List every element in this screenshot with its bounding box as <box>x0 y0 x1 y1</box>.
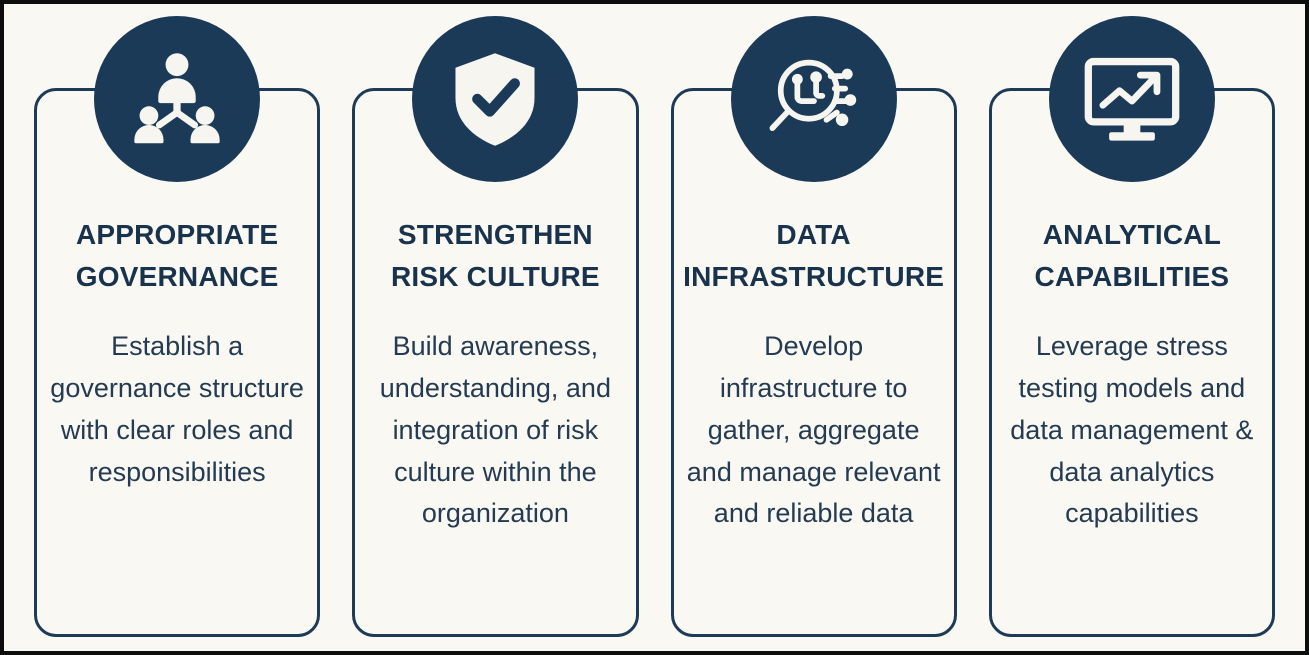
card-title: STRENGTHEN RISK CULTURE <box>364 214 626 298</box>
card-description: Leverage stress testing models and data … <box>1002 326 1262 535</box>
infographic-background: APPROPRIATE GOVERNANCE Establish a gover… <box>4 4 1305 651</box>
card-row: APPROPRIATE GOVERNANCE Establish a gover… <box>4 4 1305 651</box>
shield-check-icon <box>412 16 578 182</box>
magnifier-data-nodes-icon <box>731 16 897 182</box>
infographic-canvas: APPROPRIATE GOVERNANCE Establish a gover… <box>0 0 1309 655</box>
card-strengthen-risk-culture[interactable]: STRENGTHEN RISK CULTURE Build awareness,… <box>352 4 638 651</box>
card-data-infrastructure[interactable]: DATA INFRASTRUCTURE Develop infrastructu… <box>671 4 957 651</box>
card-title: APPROPRIATE GOVERNANCE <box>46 214 308 298</box>
card-description: Develop infrastructure to gather, aggreg… <box>684 326 944 535</box>
org-hierarchy-icon <box>94 16 260 182</box>
monitor-trend-chart-icon <box>1049 16 1215 182</box>
card-title: ANALYTICAL CAPABILITIES <box>1001 214 1263 298</box>
card-description: Establish a governance structure with cl… <box>47 326 307 493</box>
card-analytical-capabilities[interactable]: ANALYTICAL CAPABILITIES Leverage stress … <box>989 4 1275 651</box>
card-appropriate-governance[interactable]: APPROPRIATE GOVERNANCE Establish a gover… <box>34 4 320 651</box>
card-title: DATA INFRASTRUCTURE <box>683 214 945 298</box>
card-description: Build awareness, understanding, and inte… <box>365 326 625 535</box>
